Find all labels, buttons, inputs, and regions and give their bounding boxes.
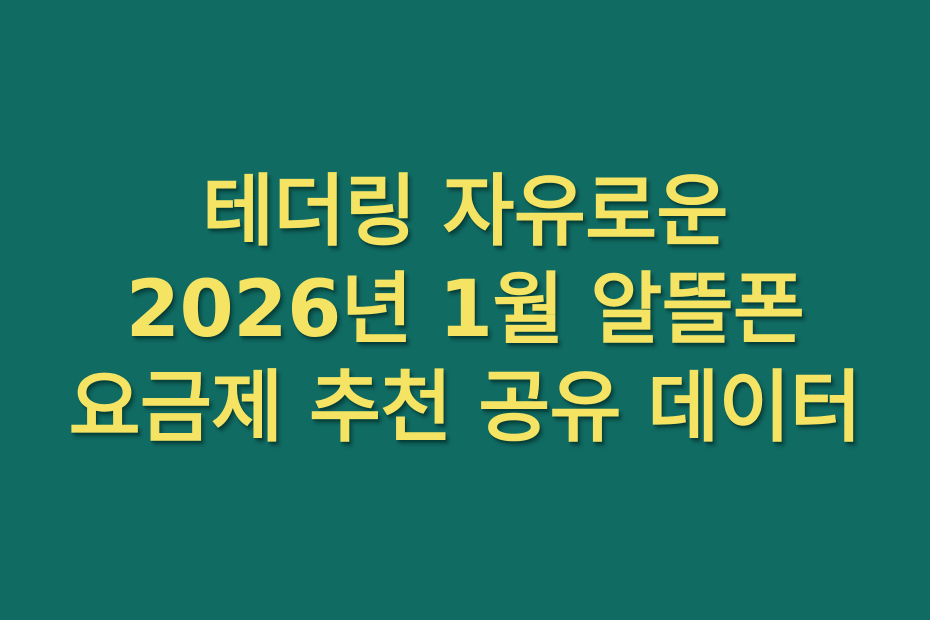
- thumbnail-canvas: 테더링 자유로운 2026년 1월 알뜰폰 요금제 추천 공유 데이터: [0, 0, 930, 620]
- headline-block: 테더링 자유로운 2026년 1월 알뜰폰 요금제 추천 공유 데이터: [0, 163, 930, 458]
- headline-title: 테더링 자유로운 2026년 1월 알뜰폰 요금제 추천 공유 데이터: [64, 163, 866, 458]
